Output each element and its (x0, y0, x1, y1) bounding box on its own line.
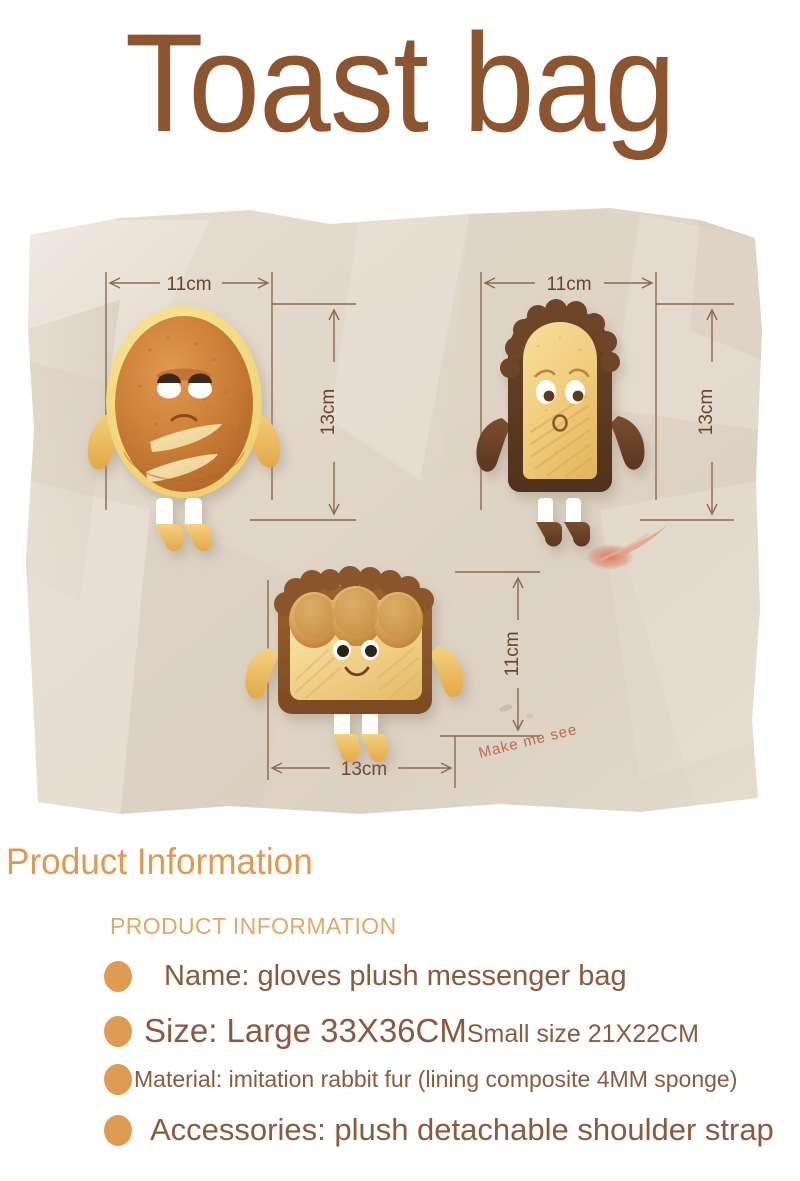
dimension-width-loaf: 13cm (341, 759, 387, 780)
bullet-dot-icon (104, 1016, 132, 1047)
list-item: Size: Large 33X36CMSmall size 21X22CM (104, 1012, 699, 1050)
loaf-domes (289, 586, 423, 648)
spec-material: Material: imitation rabbit fur (lining c… (134, 1066, 737, 1093)
product-photo-hero: 11cm 13cm 11cm 13cm 11cm 13cm (0, 180, 800, 830)
dimension-height-loaf: 11cm (502, 631, 523, 676)
dimension-width-toast-slice: 11cm (546, 274, 591, 295)
product-information-subheading: PRODUCT INFORMATION (110, 912, 397, 940)
bullet-dot-icon (104, 961, 132, 992)
spec-name: Name: gloves plush messenger bag (164, 960, 627, 993)
list-item: Name: gloves plush messenger bag (104, 960, 627, 993)
product-information-section: Product Information PRODUCT INFORMATION … (0, 836, 800, 1181)
dimension-width-round-bread: 11cm (166, 274, 211, 295)
bullet-dot-icon (104, 1115, 132, 1146)
title-band: Toast bag (0, 0, 800, 175)
spec-size-small: Small size 21X22CM (467, 1020, 699, 1048)
dimension-height-round-bread: 13cm (318, 389, 339, 435)
list-item: Material: imitation rabbit fur (lining c… (104, 1064, 737, 1095)
page-title: Toast bag (32, 8, 768, 158)
paper-background (26, 208, 762, 820)
spec-accessories: Accessories: plush detachable shoulder s… (150, 1112, 774, 1148)
spec-size-large: Size: Large 33X36CM (144, 1012, 467, 1049)
bullet-dot-icon (104, 1064, 132, 1095)
dimension-height-toast-slice: 13cm (696, 389, 717, 435)
list-item: Accessories: plush detachable shoulder s… (104, 1112, 774, 1148)
hero-illustration: 11cm 13cm 11cm 13cm 11cm 13cm (0, 180, 800, 830)
product-information-heading: Product Information (6, 840, 313, 884)
spec-size: Size: Large 33X36CMSmall size 21X22CM (144, 1012, 699, 1050)
